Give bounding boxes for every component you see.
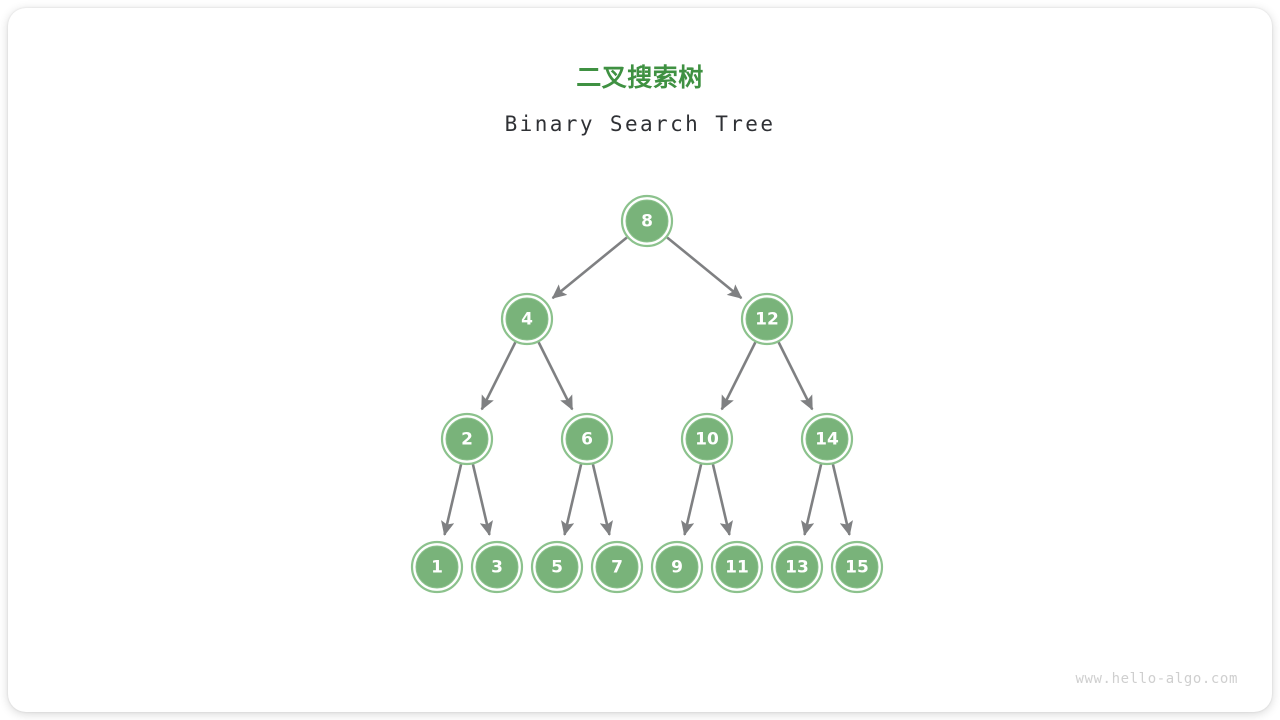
tree-node[interactable]: 1 [412, 542, 462, 592]
tree-node[interactable]: 6 [562, 414, 612, 464]
tree-edge [713, 464, 730, 535]
tree-edge [667, 237, 741, 298]
tree-node[interactable]: 11 [712, 542, 762, 592]
tree-edge [565, 464, 582, 535]
tree-node-label: 2 [461, 430, 473, 450]
tree-node-label: 4 [521, 310, 533, 330]
tree-edge [779, 342, 813, 409]
tree-node-label: 12 [755, 310, 779, 330]
tree-node-label: 13 [785, 558, 809, 578]
tree-edge [722, 342, 756, 409]
tree-node[interactable]: 4 [502, 294, 552, 344]
tree-node[interactable]: 13 [772, 542, 822, 592]
tree-node-label: 6 [581, 430, 593, 450]
tree-edges-layer [445, 237, 850, 534]
tree-node-label: 9 [671, 558, 683, 578]
tree-node[interactable]: 5 [532, 542, 582, 592]
figure-root: 二叉搜索树 Binary Search Tree 841226101413579… [0, 0, 1280, 720]
tree-edge [445, 464, 462, 535]
tree-node[interactable]: 10 [682, 414, 732, 464]
tree-node-label: 3 [491, 558, 503, 578]
tree-node-label: 11 [725, 558, 749, 578]
tree-node-label: 8 [641, 212, 653, 232]
figure-card: 二叉搜索树 Binary Search Tree 841226101413579… [8, 8, 1272, 712]
tree-edge [539, 342, 573, 409]
tree-edge [833, 464, 850, 535]
tree-nodes-layer: 841226101413579111315 [412, 196, 882, 592]
tree-edge [805, 464, 822, 535]
tree-node[interactable]: 15 [832, 542, 882, 592]
tree-node-label: 1 [431, 558, 443, 578]
tree-edge [473, 464, 490, 535]
tree-node[interactable]: 8 [622, 196, 672, 246]
tree-node-label: 5 [551, 558, 563, 578]
tree-node-label: 7 [611, 558, 623, 578]
tree-node-label: 14 [815, 430, 839, 450]
watermark: www.hello-algo.com [1075, 672, 1238, 686]
tree-edge [685, 464, 702, 535]
tree-node[interactable]: 7 [592, 542, 642, 592]
tree-edge [593, 464, 610, 535]
tree-node[interactable]: 12 [742, 294, 792, 344]
binary-search-tree-diagram: 841226101413579111315 [8, 8, 1272, 712]
tree-edge [553, 237, 627, 298]
tree-edge [482, 342, 516, 409]
tree-node[interactable]: 9 [652, 542, 702, 592]
tree-node[interactable]: 14 [802, 414, 852, 464]
tree-node[interactable]: 3 [472, 542, 522, 592]
tree-node[interactable]: 2 [442, 414, 492, 464]
tree-node-label: 15 [845, 558, 869, 578]
tree-node-label: 10 [695, 430, 719, 450]
